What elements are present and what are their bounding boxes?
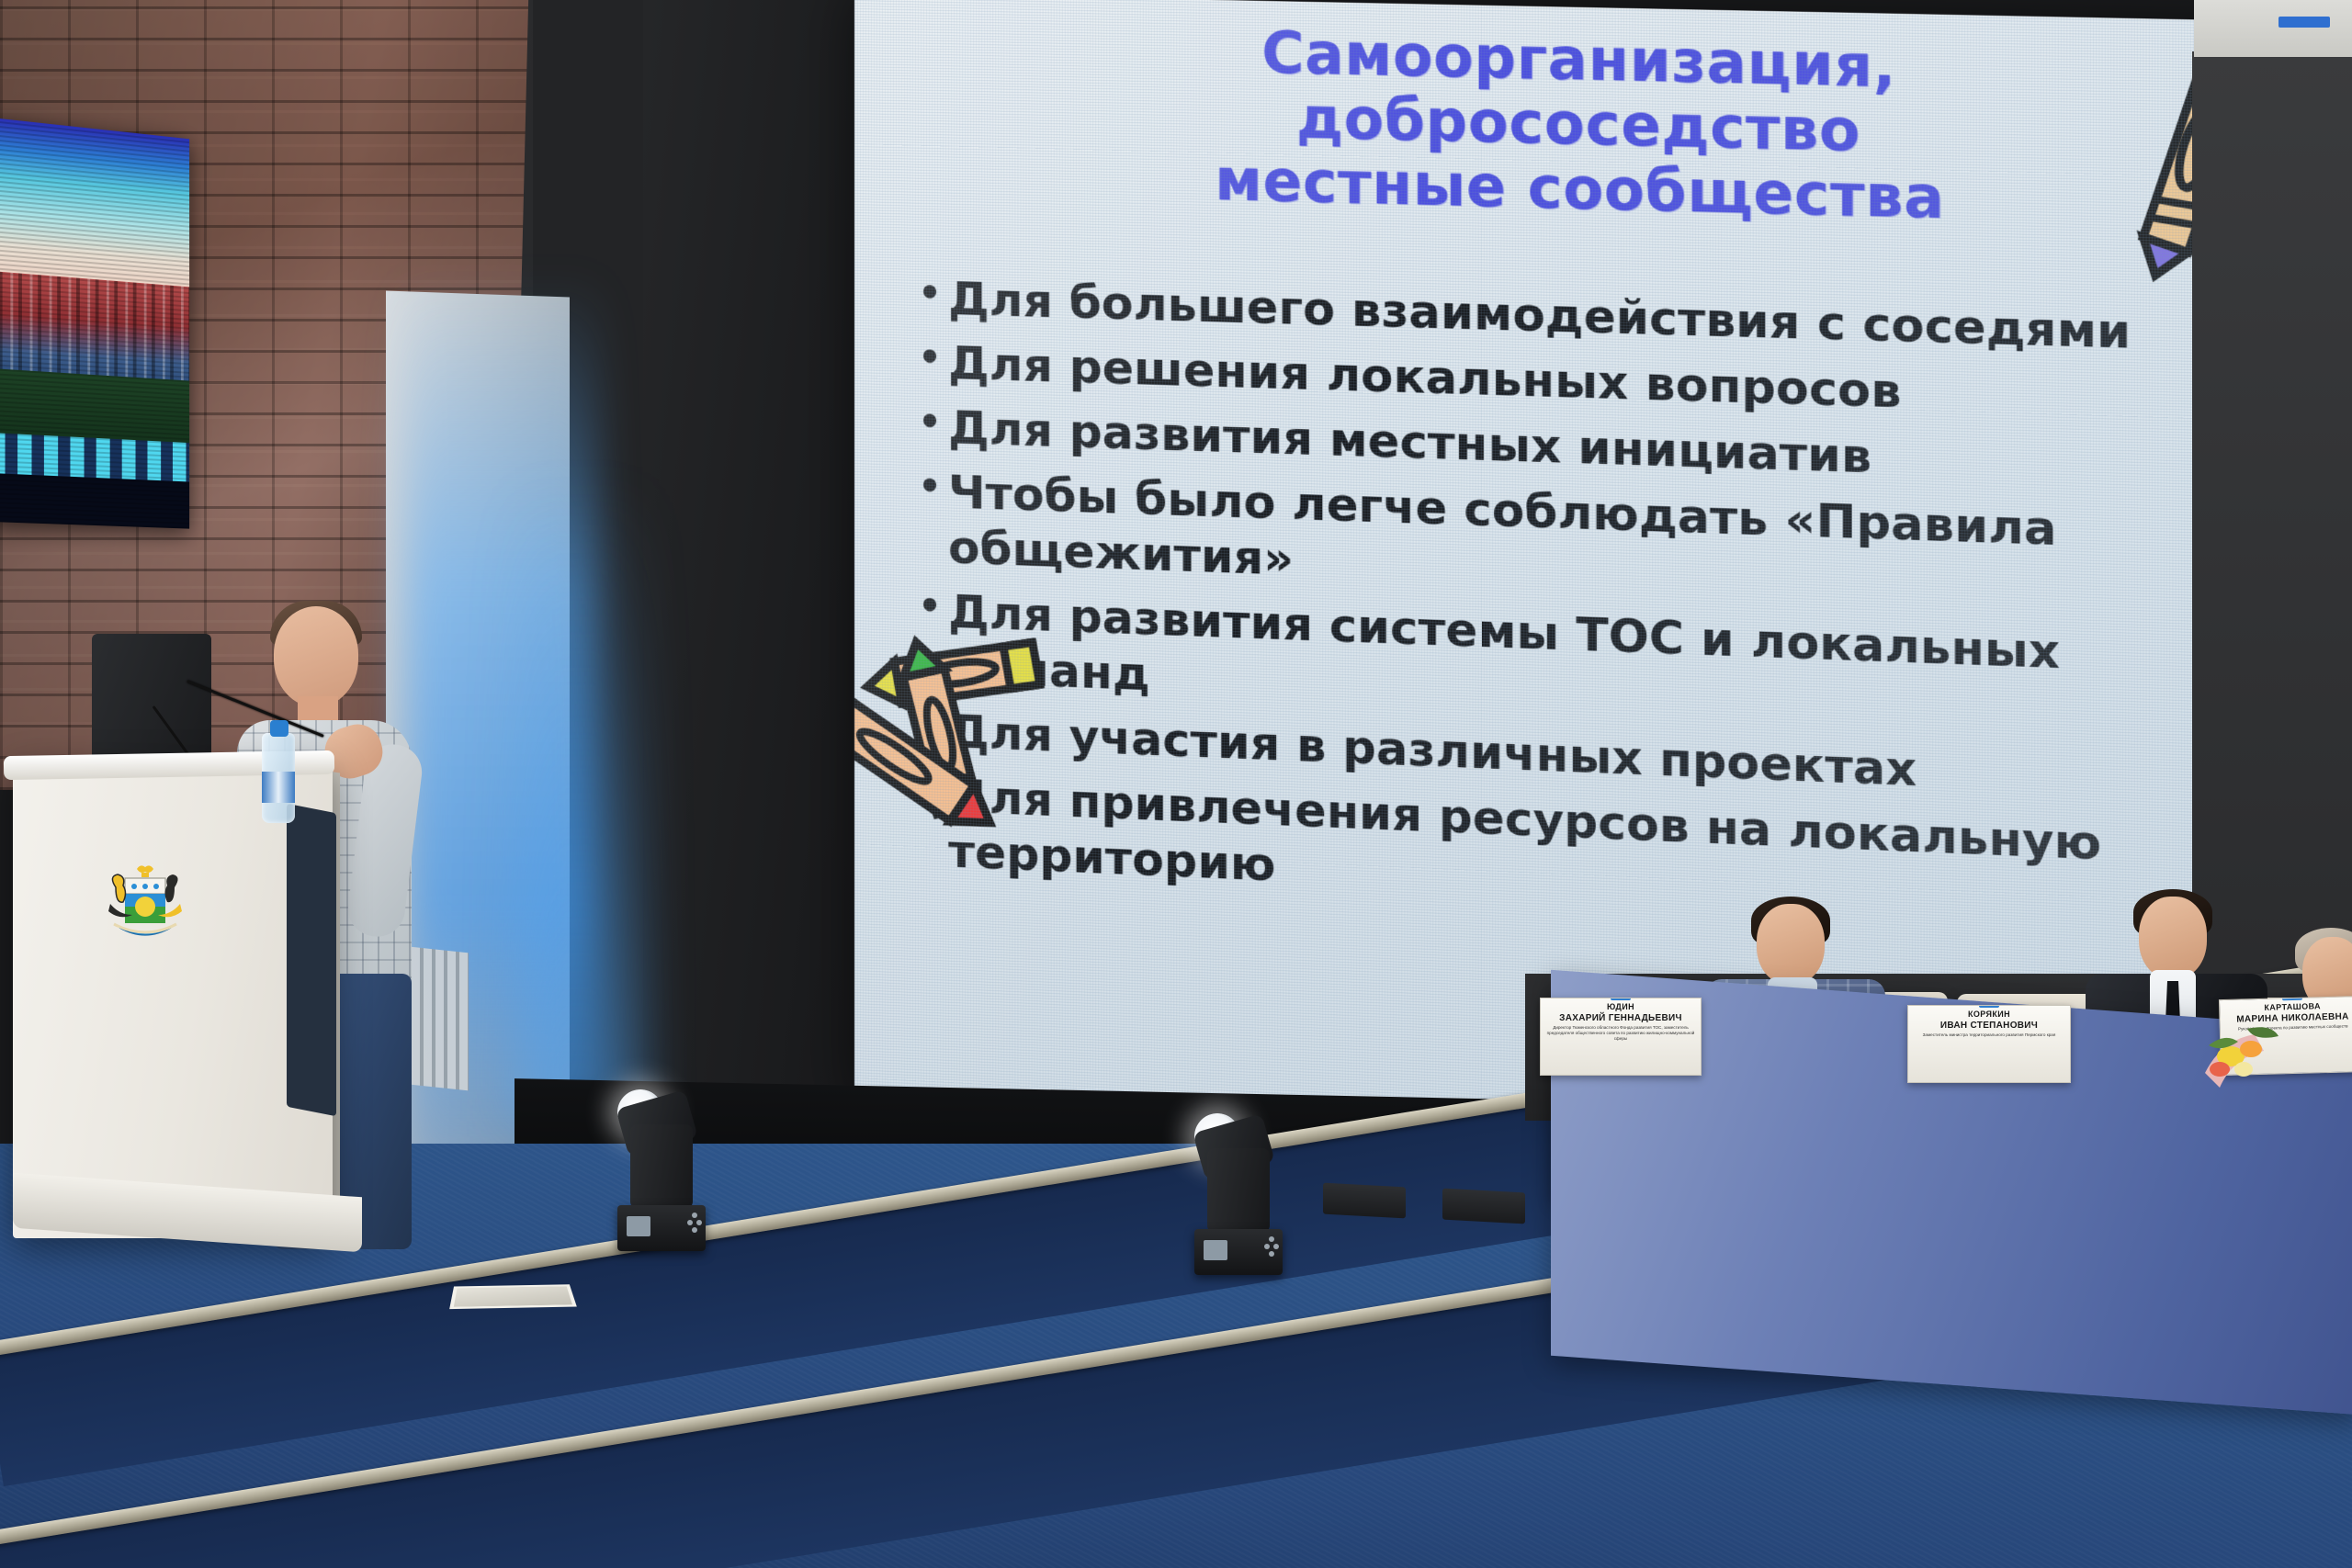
podium-cutout	[287, 804, 336, 1116]
panelist-head	[2139, 897, 2207, 979]
presenter-head	[274, 606, 358, 707]
tyumen-oblast-coat-of-arms-icon	[101, 863, 189, 959]
crayons-trio-icon	[854, 624, 1103, 848]
nameplate: ЮДИН ЗАХАРИЙ ГЕННАДЬЕВИЧ Директор Тюменс…	[1540, 998, 1702, 1076]
floor-service-hatch	[449, 1284, 577, 1309]
light-display-screen	[627, 1216, 650, 1236]
side-monitor	[0, 118, 189, 529]
nameplate-role: Заместитель министра территориального ра…	[1912, 1032, 2066, 1038]
bullet-marker: •	[911, 582, 948, 630]
light-display-screen	[1204, 1240, 1227, 1260]
ceiling-blue-tag	[2278, 17, 2330, 28]
water-bottle-label	[262, 772, 295, 803]
bullet-marker: •	[911, 463, 948, 510]
blue-uplight-wash-secondary	[514, 478, 643, 1121]
nameplate-clip	[1611, 998, 1631, 1000]
bullet-marker: •	[911, 334, 948, 381]
light-yoke	[1207, 1148, 1270, 1233]
nameplate: КОРЯКИН ИВАН СТЕПАНОВИЧ Заместитель мини…	[1907, 1005, 2071, 1083]
nameplate-given-name: ЗАХАРИЙ ГЕННАДЬЕВИЧ	[1544, 1013, 1697, 1024]
conference-stage-scene: Самоорганизация, добрососедство местные …	[0, 0, 2352, 1568]
moving-head-light	[617, 1077, 709, 1251]
slide-bullet-list: • Для большего взаимодействия с соседями…	[911, 270, 2267, 945]
flower-bouquet-icon	[2196, 1009, 2306, 1110]
nameplate-surname: КОРЯКИН	[1912, 1010, 2066, 1020]
nameplate-surname: ЮДИН	[1544, 1003, 1697, 1012]
water-bottle-cap	[270, 720, 288, 737]
nameplate-given-name: ИВАН СТЕПАНОВИЧ	[1912, 1021, 2066, 1032]
light-base	[1194, 1229, 1283, 1275]
light-buttons	[687, 1220, 693, 1225]
nameplate-clip	[1979, 1005, 1999, 1008]
nameplate-role: Директор Тюменского областного Фонда раз…	[1544, 1025, 1697, 1041]
light-base	[617, 1205, 706, 1251]
podium	[13, 761, 333, 1238]
slide-title: Самоорганизация, добрососедство местные …	[854, 13, 2326, 241]
bullet-marker: •	[911, 270, 948, 317]
right-dark-wall	[2192, 51, 2352, 1025]
light-buttons	[1264, 1244, 1270, 1249]
panelist-head	[1757, 904, 1825, 985]
stage-equipment-box	[1323, 1183, 1406, 1219]
bullet-marker: •	[911, 399, 948, 446]
ceiling-strip	[2194, 0, 2352, 57]
light-yoke	[630, 1124, 693, 1209]
monitor-scanlines	[0, 118, 189, 529]
moving-head-light	[1194, 1100, 1286, 1275]
stage-equipment-box	[1442, 1189, 1525, 1224]
